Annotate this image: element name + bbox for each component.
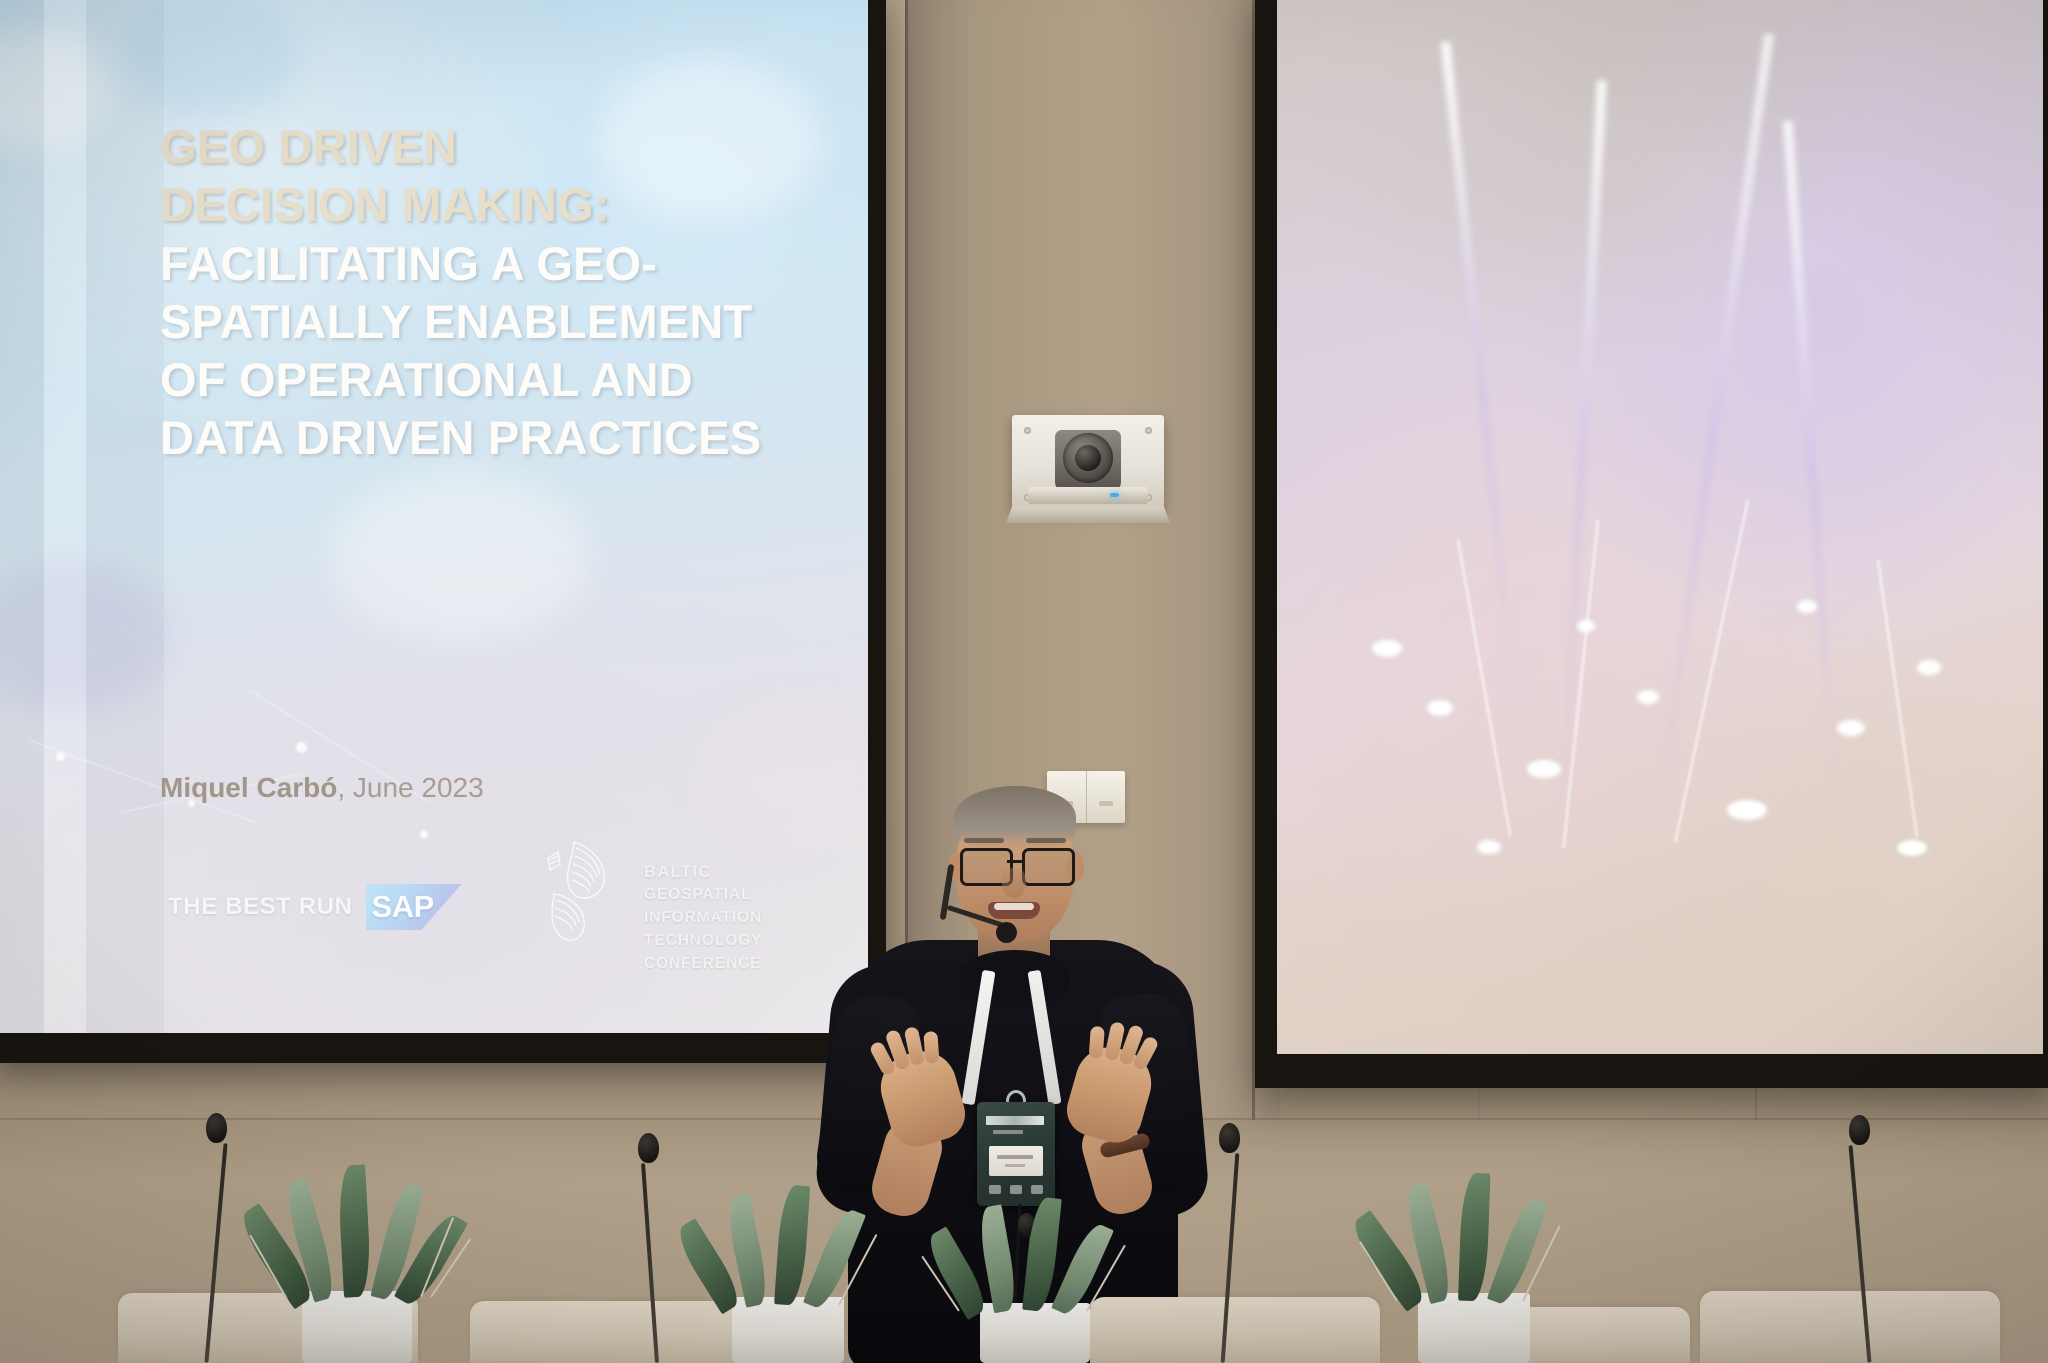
camera-lens-icon	[1075, 445, 1101, 471]
network-node	[1372, 640, 1402, 657]
network-node	[1897, 840, 1927, 856]
glasses-bridge	[1007, 860, 1022, 863]
badge-name-line	[997, 1155, 1033, 1159]
camera-status-led	[1110, 493, 1119, 497]
microphone-head-icon	[1849, 1115, 1870, 1145]
badge-subtitle	[993, 1130, 1023, 1134]
eyebrow-right	[1026, 838, 1066, 843]
microphone-head-icon	[638, 1133, 659, 1163]
microphone-stem	[204, 1143, 227, 1363]
network-line	[1674, 500, 1749, 843]
leaf	[1458, 1173, 1490, 1302]
network-node	[1797, 600, 1817, 613]
conference-line-3: INFORMATION TECHNOLOGY	[644, 907, 840, 953]
plant-arrangement	[1340, 1153, 1590, 1363]
network-node	[1427, 700, 1453, 716]
badge-logo	[986, 1116, 1044, 1125]
table-microphone	[196, 1113, 236, 1363]
sap-wordmark: SAP	[366, 884, 462, 930]
slide-band	[0, 0, 44, 1033]
network-node	[1727, 800, 1767, 820]
slide-band	[86, 0, 164, 1033]
conference-logo: BALTIC GEOSPATIAL INFORMATION TECHNOLOGY…	[540, 828, 840, 950]
title-line-3: FACILITATING A GEO-	[160, 235, 780, 293]
network-node	[296, 742, 307, 753]
bracket-screw	[1024, 427, 1031, 434]
table-microphone	[1210, 1123, 1250, 1363]
eyebrow-left	[964, 838, 1004, 843]
light-beam	[1557, 80, 1607, 839]
network-node	[56, 752, 65, 761]
microphone-stem	[641, 1163, 659, 1363]
badge-name-plate	[989, 1146, 1043, 1176]
conference-photo-scene: GEO DRIVEN DECISION MAKING: FACILITATING…	[0, 0, 2048, 1363]
table-microphone	[1840, 1115, 1880, 1363]
title-line-1: GEO DRIVEN	[160, 118, 780, 176]
sap-logo: THE BEST RUN SAP	[168, 884, 462, 930]
network-node	[1637, 690, 1659, 704]
microphone-head-icon	[1219, 1123, 1240, 1153]
plant-arrangement	[660, 1168, 910, 1363]
microphone-stem	[1849, 1145, 1872, 1363]
light-beam	[1783, 121, 1842, 820]
title-line-2: DECISION MAKING:	[160, 176, 780, 234]
sap-wordmark-text: SAP	[372, 889, 434, 925]
title-line-6: DATA DRIVEN PRACTICES	[160, 409, 780, 467]
conference-line-1: BALTIC	[644, 860, 840, 884]
left-screen-frame: GEO DRIVEN DECISION MAKING: FACILITATING…	[0, 0, 886, 1063]
slide-title: GEO DRIVEN DECISION MAKING: FACILITATING…	[160, 118, 780, 468]
teeth	[994, 903, 1034, 910]
byline-author: Miquel Carbó	[160, 772, 337, 803]
light-beam	[1650, 33, 1774, 846]
plant-pot	[302, 1291, 412, 1363]
leaf	[803, 1206, 866, 1312]
network-node	[1917, 660, 1941, 675]
nose	[1002, 868, 1026, 898]
leaf	[337, 1164, 372, 1297]
light-beam	[1440, 41, 1523, 738]
network-line	[1877, 560, 1918, 838]
glasses-lens-right	[1022, 848, 1075, 886]
leaf	[1487, 1195, 1549, 1307]
slide-byline: Miquel Carbó, June 2023	[160, 772, 484, 804]
network-node	[1527, 760, 1561, 778]
presentation-slide: GEO DRIVEN DECISION MAKING: FACILITATING…	[0, 0, 868, 1033]
plant-arrangement	[900, 1183, 1160, 1363]
right-projection-image	[1277, 0, 2043, 1054]
bokeh-blob	[330, 470, 590, 640]
camera-base	[1028, 487, 1148, 504]
headset-microphone-icon	[996, 922, 1017, 943]
microphone-stem	[1221, 1153, 1240, 1363]
sweater-collar	[960, 950, 1070, 1002]
sap-tagline: THE BEST RUN	[168, 893, 353, 921]
plant-arrangement	[240, 1148, 470, 1363]
conference-logo-text: BALTIC GEOSPATIAL INFORMATION TECHNOLOGY…	[644, 860, 840, 975]
leaf	[774, 1184, 810, 1306]
finger	[923, 1031, 939, 1064]
network-node	[1477, 840, 1501, 854]
right-screen-surface	[1277, 0, 2043, 1054]
conference-line-4: CONFERENCE	[644, 953, 840, 976]
plant-pot	[1418, 1293, 1530, 1363]
microphone-head-icon	[206, 1113, 227, 1143]
badge-role-line	[1005, 1164, 1025, 1167]
network-node	[1577, 620, 1595, 632]
finger	[1089, 1026, 1105, 1059]
left-screen-surface: GEO DRIVEN DECISION MAKING: FACILITATING…	[0, 0, 868, 1033]
slide-band	[44, 0, 86, 1033]
bracket-screw	[1145, 427, 1152, 434]
title-line-4: SPATIALLY ENABLEMENT	[160, 293, 780, 351]
conference-logo-mark	[540, 828, 636, 950]
byline-date: , June 2023	[337, 772, 483, 803]
title-line-5: OF OPERATIONAL AND	[160, 351, 780, 409]
network-node	[420, 830, 428, 838]
conference-line-2: GEOSPATIAL	[644, 884, 840, 907]
right-screen-frame	[1255, 0, 2048, 1088]
network-node	[1837, 720, 1865, 736]
